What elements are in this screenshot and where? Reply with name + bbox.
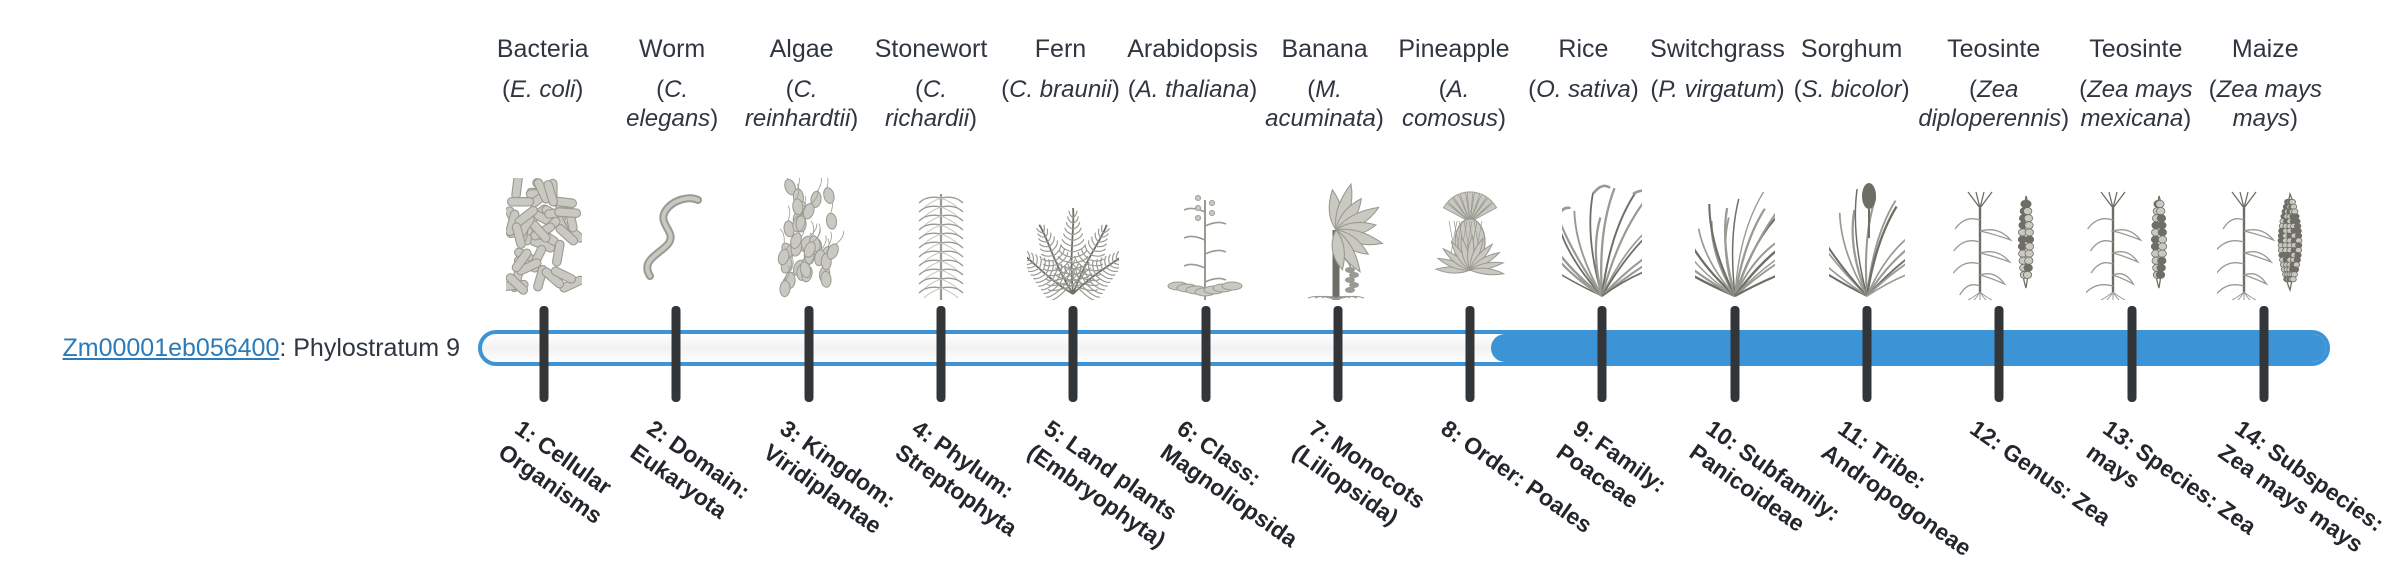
bacteria-illustration (478, 170, 610, 300)
species-header-1: Bacteria(E. coli) (478, 34, 607, 133)
species-scientific-name: (Zea mays mexicana) (2073, 75, 2198, 133)
species-illustration-row (478, 170, 2330, 300)
species-common-name: Sorghum (1789, 34, 1914, 65)
pineapple-illustration (1404, 170, 1536, 300)
phylostratum-bar-fill (1491, 334, 2330, 362)
species-header-3: Algae(C. reinhardtii) (737, 34, 866, 133)
phylostratum-bar[interactable] (478, 330, 2330, 366)
banana-illustration (1272, 170, 1404, 300)
phylostratum-label-row: 1: Cellular Organisms2: Domain: Eukaryot… (478, 414, 2330, 580)
species-scientific-name: (Zea mays mays) (2203, 75, 2328, 133)
species-header-row: Bacteria(E. coli)Worm(C. elegans)Algae(C… (478, 34, 2330, 133)
species-header-4: Stonewort(C. richardii) (866, 34, 995, 133)
phylostratum-bar-track (478, 330, 2330, 366)
phylostratum-rank: Cellular Organisms (494, 430, 617, 529)
species-scientific-name: (O. sativa) (1521, 75, 1646, 104)
species-common-name: Bacteria (480, 34, 605, 65)
species-common-name: Teosinte (1918, 34, 2069, 65)
species-common-name: Algae (739, 34, 864, 65)
sorghum-illustration (1801, 170, 1933, 300)
species-header-2: Worm(C. elegans) (607, 34, 736, 133)
species-common-name: Switchgrass (1650, 34, 1785, 65)
gene-phylostratum-label: Zm00001eb056400: Phylostratum 9 (40, 333, 460, 363)
species-header-5: Fern(C. braunii) (996, 34, 1125, 133)
species-header-11: Sorghum(S. bicolor) (1787, 34, 1916, 133)
species-common-name: Banana (1262, 34, 1387, 65)
species-common-name: Pineapple (1391, 34, 1516, 65)
species-scientific-name: (A. comosus) (1391, 75, 1516, 133)
gene-id-link[interactable]: Zm00001eb056400 (63, 334, 280, 362)
species-scientific-name: (A. thaliana) (1127, 75, 1258, 104)
fern-illustration (1007, 170, 1139, 300)
species-scientific-name: (M. acuminata) (1262, 75, 1387, 133)
rice-illustration (1536, 170, 1668, 300)
species-header-6: Arabidopsis(A. thaliana) (1125, 34, 1260, 133)
teosinte-mexicana-illustration (2065, 170, 2197, 300)
species-scientific-name: (C. elegans) (609, 75, 734, 133)
species-scientific-name: (C. reinhardtii) (739, 75, 864, 133)
algae-illustration (743, 170, 875, 300)
species-scientific-name: (C. richardii) (868, 75, 993, 133)
maize-illustration (2198, 170, 2330, 300)
species-header-13: Teosinte(Zea mays mexicana) (2071, 34, 2200, 133)
phylostratum-value-text: : Phylostratum 9 (279, 334, 460, 362)
species-header-8: Pineapple(A. comosus) (1389, 34, 1518, 133)
species-scientific-name: (C. braunii) (998, 75, 1123, 104)
worm-illustration (610, 170, 742, 300)
switchgrass-illustration (1669, 170, 1801, 300)
arabidopsis-illustration (1139, 170, 1271, 300)
species-common-name: Fern (998, 34, 1123, 65)
species-scientific-name: (E. coli) (480, 75, 605, 104)
species-common-name: Arabidopsis (1127, 34, 1258, 65)
species-common-name: Teosinte (2073, 34, 2198, 65)
species-common-name: Worm (609, 34, 734, 65)
phylostratum-number: 12: (1966, 415, 2008, 455)
phylostratum-figure: Bacteria(E. coli)Worm(C. elegans)Algae(C… (0, 0, 2400, 580)
species-scientific-name: (S. bicolor) (1789, 75, 1914, 104)
species-common-name: Rice (1521, 34, 1646, 65)
species-common-name: Maize (2203, 34, 2328, 65)
species-scientific-name: (P. virgatum) (1650, 75, 1785, 104)
species-scientific-name: (Zea diploperennis) (1918, 75, 2069, 133)
species-header-14: Maize(Zea mays mays) (2201, 34, 2330, 133)
teosinte-diploperennis-illustration (1933, 170, 2065, 300)
stonewort-illustration (875, 170, 1007, 300)
species-common-name: Stonewort (868, 34, 993, 65)
species-header-9: Rice(O. sativa) (1519, 34, 1648, 133)
species-header-12: Teosinte(Zea diploperennis) (1916, 34, 2071, 133)
species-header-10: Switchgrass(P. virgatum) (1648, 34, 1787, 133)
species-header-7: Banana(M. acuminata) (1260, 34, 1389, 133)
